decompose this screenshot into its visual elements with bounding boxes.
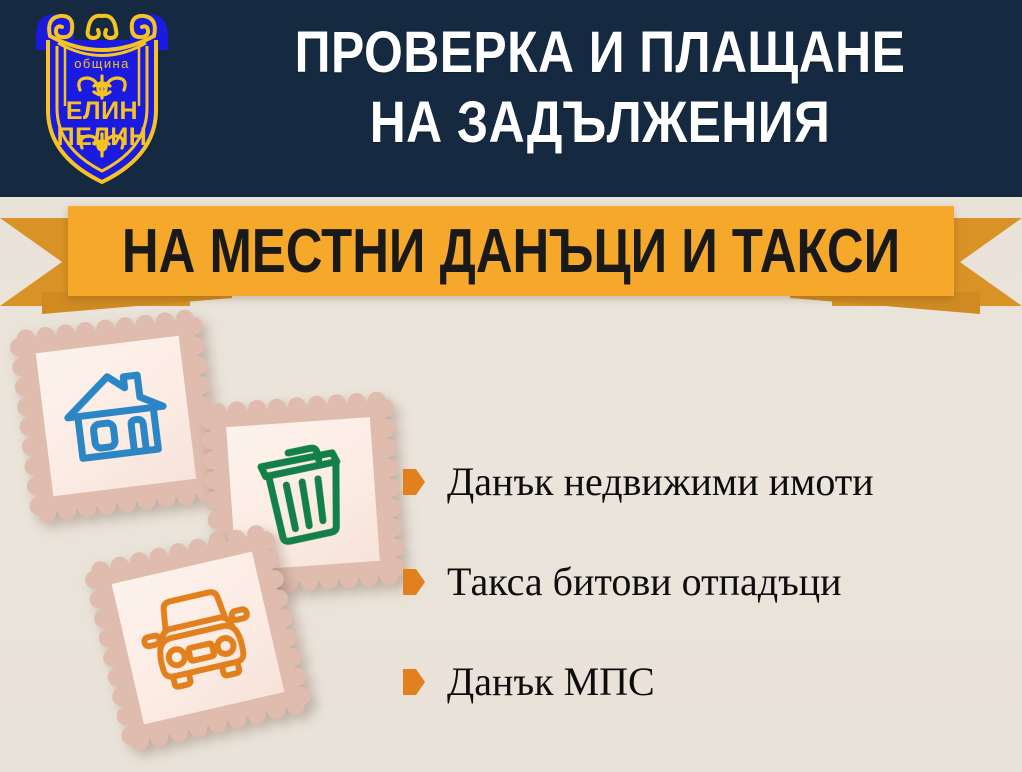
list-item-label: Данък недвижими имоти (447, 462, 874, 502)
tax-type-list: Данък недвижими имоти Такса битови отпад… (403, 432, 1003, 732)
page-title: ПРОВЕРКА И ПЛАЩАНЕ НА ЗАДЪЛЖЕНИЯ (243, 18, 957, 158)
poster-root: НА МЕСТНИ ДАНЪЦИ И ТАКСИ ПРОВЕРКА И ПЛАЩ… (0, 0, 1022, 772)
crest-name-line2: ПЕЛИН (57, 123, 148, 151)
list-item-label: Данък МПС (447, 662, 655, 702)
ribbon-label: НА МЕСТНИ ДАНЪЦИ И ТАКСИ (148, 206, 875, 296)
ribbon-band: НА МЕСТНИ ДАНЪЦИ И ТАКСИ (68, 206, 954, 296)
crest-icon: община ЕЛИН ПЕЛИН (28, 6, 176, 188)
house-stamp (7, 307, 225, 525)
house-icon (36, 336, 196, 496)
arrow-bullet-icon (403, 669, 425, 695)
arrow-bullet-icon (403, 569, 425, 595)
crest-logo: община ЕЛИН ПЕЛИН (28, 6, 176, 188)
ribbon: НА МЕСТНИ ДАНЪЦИ И ТАКСИ (0, 196, 1022, 316)
list-item[interactable]: Данък недвижими имоти (403, 432, 1003, 532)
crest-subtitle: община (74, 56, 129, 71)
list-item[interactable]: Данък МПС (403, 632, 1003, 732)
list-item[interactable]: Такса битови отпадъци (403, 532, 1003, 632)
arrow-bullet-icon (403, 469, 425, 495)
crest-name-line1: ЕЛИН (66, 97, 138, 125)
list-item-label: Такса битови отпадъци (447, 562, 842, 602)
